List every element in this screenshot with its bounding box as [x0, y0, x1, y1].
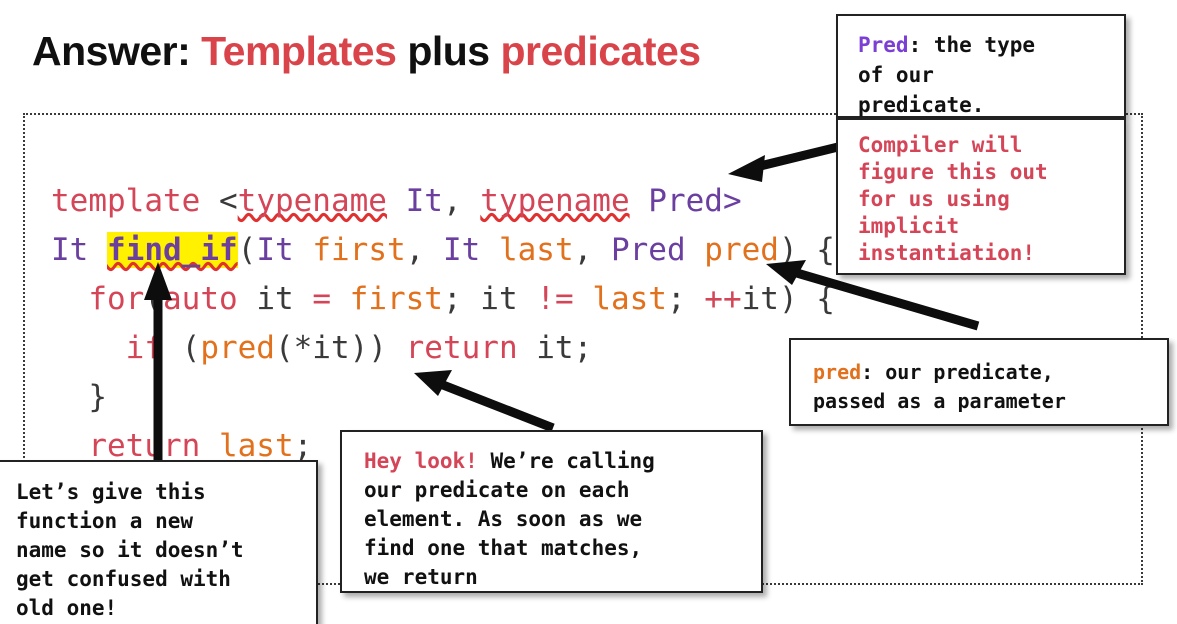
code-token — [51, 428, 88, 464]
code-token: } — [51, 379, 107, 415]
page-title: Answer: Templates plus predicates — [32, 28, 701, 75]
callout-hey-look: Hey look! We’re calling our predicate on… — [340, 430, 763, 593]
callout-compiler: Compiler will figure this out for us usi… — [836, 118, 1126, 275]
code-token: = — [312, 281, 331, 317]
code-token: it) { — [742, 281, 835, 317]
code-token: typename — [480, 183, 629, 219]
code-token: ; it — [443, 281, 536, 317]
code-token: pred — [200, 330, 275, 366]
callout-new-name: Let’s give this function a new name so i… — [0, 460, 318, 624]
callout-pred-type: Pred: the type of our predicate. — [836, 14, 1126, 118]
code-token: it; — [518, 330, 593, 366]
code-token: It — [406, 183, 443, 219]
code-token: ( — [238, 232, 257, 268]
code-token: ( — [144, 281, 163, 317]
code-token: it — [238, 281, 313, 317]
code-token: typename — [238, 183, 387, 219]
code-token: auto — [163, 281, 238, 317]
code-token: find_if — [107, 232, 238, 268]
code-token — [51, 330, 126, 366]
code-token: pred — [704, 232, 779, 268]
code-token: < — [219, 183, 238, 219]
code-listing: template <typename It, typename Pred>It … — [51, 177, 835, 471]
code-token: ; — [294, 428, 313, 464]
code-token: for — [88, 281, 144, 317]
slide-canvas: Answer: Templates plus predicates templa… — [0, 0, 1177, 624]
line-signature: It find_if(It first, It last, Pred pred)… — [51, 226, 835, 275]
code-token: ( — [163, 330, 200, 366]
code-token — [480, 232, 499, 268]
title-mid: plus — [396, 28, 500, 74]
code-token: first — [312, 232, 405, 268]
callout-text-run: Let’s give this function a new name so i… — [16, 480, 244, 620]
code-token: if — [126, 330, 163, 366]
code-token: , — [574, 232, 611, 268]
title-word-templates: Templates — [201, 28, 396, 74]
code-token — [686, 232, 705, 268]
code-token: ) { — [779, 232, 835, 268]
line-for: for(auto it = first; it != last; ++it) { — [51, 275, 835, 324]
code-token — [387, 183, 406, 219]
line-template: template <typename It, typename Pred> — [51, 177, 835, 226]
code-token: It — [443, 232, 480, 268]
code-token — [331, 281, 350, 317]
code-token — [294, 232, 313, 268]
code-token: , — [443, 183, 480, 219]
code-token: (*it)) — [275, 330, 406, 366]
code-token: Pred — [611, 232, 686, 268]
callout-pred-param: pred: our predicate, passed as a paramet… — [789, 338, 1169, 426]
code-token — [574, 281, 593, 317]
code-token: , — [406, 232, 443, 268]
code-token — [200, 428, 219, 464]
code-token: ++ — [704, 281, 741, 317]
code-token: first — [350, 281, 443, 317]
code-token — [630, 183, 649, 219]
line-close-for: } — [51, 373, 835, 422]
title-prefix: Answer: — [32, 28, 201, 74]
callout-text-run: Hey look! — [364, 449, 478, 473]
code-token: ; — [667, 281, 704, 317]
code-token: It — [51, 232, 107, 268]
callout-text-run: Compiler will figure this out for us usi… — [858, 133, 1048, 265]
callout-text-run: Pred — [858, 33, 909, 57]
code-token: last — [592, 281, 667, 317]
code-token: Pred — [648, 183, 723, 219]
code-token: > — [723, 183, 742, 219]
code-token: return — [406, 330, 518, 366]
code-token: It — [256, 232, 293, 268]
title-word-predicates: predicates — [501, 28, 701, 74]
code-token: return — [88, 428, 200, 464]
code-token — [51, 281, 88, 317]
code-token: template — [51, 183, 219, 219]
line-if: if (pred(*it)) return it; — [51, 324, 835, 373]
code-token: last — [499, 232, 574, 268]
callout-text-run: pred — [813, 360, 861, 384]
code-token: last — [219, 428, 294, 464]
code-token: != — [536, 281, 573, 317]
